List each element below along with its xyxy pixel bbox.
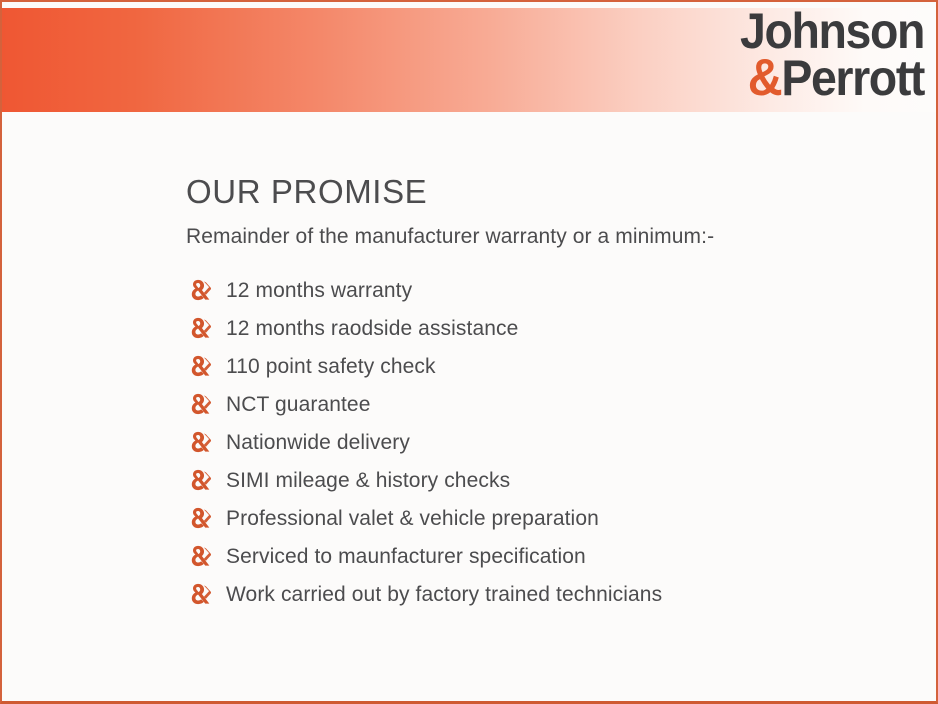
page-title: OUR PROMISE (186, 174, 926, 210)
list-item: 12 months raodside assistance (186, 309, 926, 347)
list-item: SIMI mileage & history checks (186, 461, 926, 499)
johnson-perrott-logo: Johnson &Perrott (694, 8, 924, 108)
list-item-label: NCT guarantee (226, 394, 371, 415)
list-item-label: 12 months raodside assistance (226, 318, 518, 339)
list-item: Professional valet & vehicle preparation (186, 499, 926, 537)
ampersand-icon (186, 315, 212, 341)
ampersand-icon (186, 353, 212, 379)
list-item-label: Work carried out by factory trained tech… (226, 584, 662, 605)
promise-list: 12 months warranty 12 months raodside as… (186, 271, 926, 613)
logo-perrott-word: Perrott (781, 50, 924, 106)
ampersand-icon (186, 505, 212, 531)
list-item-label: Nationwide delivery (226, 432, 410, 453)
logo-text-perrott: &Perrott (710, 55, 924, 103)
logo-ampersand-icon: & (748, 49, 782, 107)
list-item: Serviced to maunfacturer specification (186, 537, 926, 575)
list-item-label: 12 months warranty (226, 280, 412, 301)
page-subtitle: Remainder of the manufacturer warranty o… (186, 224, 926, 249)
list-item: 12 months warranty (186, 271, 926, 309)
list-item-label: Professional valet & vehicle preparation (226, 508, 599, 529)
list-item-label: 110 point safety check (226, 356, 436, 377)
list-item: Nationwide delivery (186, 423, 926, 461)
list-item: NCT guarantee (186, 385, 926, 423)
promise-slide: Johnson &Perrott OUR PROMISE Remainder o… (0, 0, 938, 704)
list-item: Work carried out by factory trained tech… (186, 575, 926, 613)
ampersand-icon (186, 467, 212, 493)
ampersand-icon (186, 581, 212, 607)
ampersand-icon (186, 391, 212, 417)
list-item: 110 point safety check (186, 347, 926, 385)
content-area: OUR PROMISE Remainder of the manufacture… (186, 174, 926, 613)
list-item-label: SIMI mileage & history checks (226, 470, 510, 491)
ampersand-icon (186, 429, 212, 455)
ampersand-icon (186, 277, 212, 303)
logo-text-johnson: Johnson (710, 8, 924, 54)
list-item-label: Serviced to maunfacturer specification (226, 546, 586, 567)
ampersand-icon (186, 543, 212, 569)
